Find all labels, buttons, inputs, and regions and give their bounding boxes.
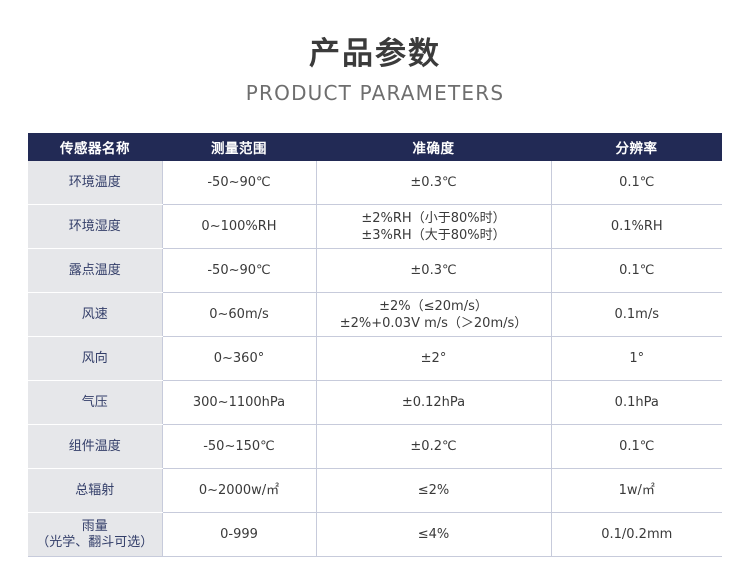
cell-measuring-range: 0~100%RH xyxy=(162,205,316,249)
cell-resolution: 0.1m/s xyxy=(551,293,722,337)
cell-accuracy: ±2%RH（小于80%时）±3%RH（大于80%时） xyxy=(316,205,551,249)
table-row: 风向0~360°±2°1° xyxy=(28,337,722,381)
table-row: 露点温度-50~90℃±0.3℃0.1℃ xyxy=(28,249,722,293)
column-header-accuracy: 准确度 xyxy=(316,133,551,161)
cell-resolution: 0.1hPa xyxy=(551,381,722,425)
cell-sensor-name: 环境湿度 xyxy=(28,205,162,249)
sensor-name-text: 气压 xyxy=(32,395,158,411)
cell-accuracy: ±2%（≤20m/s）±2%+0.03V m/s（＞20m/s） xyxy=(316,293,551,337)
sensor-name-text: 总辐射 xyxy=(32,483,158,499)
cell-sensor-name: 环境温度 xyxy=(28,161,162,205)
cell-sensor-name: 气压 xyxy=(28,381,162,425)
table-row: 组件温度-50~150℃±0.2℃0.1℃ xyxy=(28,425,722,469)
accuracy-line-1: ±0.3℃ xyxy=(321,174,547,191)
column-header-resolution: 分辨率 xyxy=(551,133,722,161)
table-body: 环境温度-50~90℃±0.3℃0.1℃环境湿度0~100%RH±2%RH（小于… xyxy=(28,161,722,557)
table-row: 雨量（光学、翻斗可选）0-999≤4%0.1/0.2mm xyxy=(28,513,722,557)
accuracy-line-1: ±0.3℃ xyxy=(321,262,547,279)
cell-accuracy: ±0.12hPa xyxy=(316,381,551,425)
page-header: 产品参数 PRODUCT PARAMETERS xyxy=(0,0,750,107)
accuracy-line-1: ±0.12hPa xyxy=(321,394,547,411)
cell-resolution: 0.1%RH xyxy=(551,205,722,249)
cell-sensor-name: 总辐射 xyxy=(28,469,162,513)
accuracy-line-2: ±3%RH（大于80%时） xyxy=(321,227,547,244)
sensor-name-text: 风速 xyxy=(32,307,158,323)
cell-resolution: 0.1℃ xyxy=(551,425,722,469)
table-row: 环境温度-50~90℃±0.3℃0.1℃ xyxy=(28,161,722,205)
accuracy-line-1: ±0.2℃ xyxy=(321,438,547,455)
cell-resolution: 0.1℃ xyxy=(551,161,722,205)
spec-table: 传感器名称 测量范围 准确度 分辨率 环境温度-50~90℃±0.3℃0.1℃环… xyxy=(28,133,722,557)
table-header: 传感器名称 测量范围 准确度 分辨率 xyxy=(28,133,722,161)
cell-measuring-range: 300~1100hPa xyxy=(162,381,316,425)
accuracy-line-1: ±2%RH（小于80%时） xyxy=(321,210,547,227)
cell-resolution: 1° xyxy=(551,337,722,381)
page-title: 产品参数 xyxy=(0,34,750,74)
accuracy-line-1: ±2° xyxy=(321,350,547,367)
table-row: 风速0~60m/s±2%（≤20m/s）±2%+0.03V m/s（＞20m/s… xyxy=(28,293,722,337)
cell-measuring-range: 0~60m/s xyxy=(162,293,316,337)
table-header-row: 传感器名称 测量范围 准确度 分辨率 xyxy=(28,133,722,161)
cell-accuracy: ±2° xyxy=(316,337,551,381)
sensor-name-text: 环境温度 xyxy=(32,175,158,191)
cell-sensor-name: 雨量（光学、翻斗可选） xyxy=(28,513,162,557)
cell-accuracy: ≤4% xyxy=(316,513,551,557)
page-subtitle: PRODUCT PARAMETERS xyxy=(0,79,750,107)
sensor-name-text: 风向 xyxy=(32,351,158,367)
cell-resolution: 0.1/0.2mm xyxy=(551,513,722,557)
cell-accuracy: ±0.2℃ xyxy=(316,425,551,469)
cell-sensor-name: 组件温度 xyxy=(28,425,162,469)
sensor-name-text: 组件温度 xyxy=(32,439,158,455)
cell-resolution: 0.1℃ xyxy=(551,249,722,293)
cell-measuring-range: 0~2000w/㎡ xyxy=(162,469,316,513)
cell-accuracy: ≤2% xyxy=(316,469,551,513)
table-row: 总辐射0~2000w/㎡≤2%1w/㎡ xyxy=(28,469,722,513)
sensor-name-text: 露点温度 xyxy=(32,263,158,279)
accuracy-line-1: ±2%（≤20m/s） xyxy=(321,298,547,315)
cell-measuring-range: 0~360° xyxy=(162,337,316,381)
cell-accuracy: ±0.3℃ xyxy=(316,161,551,205)
cell-accuracy: ±0.3℃ xyxy=(316,249,551,293)
column-header-sensor-name: 传感器名称 xyxy=(28,133,162,161)
cell-sensor-name: 露点温度 xyxy=(28,249,162,293)
column-header-measuring-range: 测量范围 xyxy=(162,133,316,161)
accuracy-line-1: ≤2% xyxy=(321,482,547,499)
cell-sensor-name: 风向 xyxy=(28,337,162,381)
sensor-name-text: 环境湿度 xyxy=(32,219,158,235)
table-row: 环境湿度0~100%RH±2%RH（小于80%时）±3%RH（大于80%时）0.… xyxy=(28,205,722,249)
cell-measuring-range: -50~90℃ xyxy=(162,249,316,293)
cell-measuring-range: 0-999 xyxy=(162,513,316,557)
accuracy-line-2: ±2%+0.03V m/s（＞20m/s） xyxy=(321,315,547,332)
product-parameters-page: 产品参数 PRODUCT PARAMETERS 传感器名称 测量范围 准确度 分… xyxy=(0,0,750,564)
spec-table-container: 传感器名称 测量范围 准确度 分辨率 环境温度-50~90℃±0.3℃0.1℃环… xyxy=(28,133,722,557)
sensor-name-subtext: （光学、翻斗可选） xyxy=(32,535,158,551)
cell-resolution: 1w/㎡ xyxy=(551,469,722,513)
cell-measuring-range: -50~90℃ xyxy=(162,161,316,205)
cell-sensor-name: 风速 xyxy=(28,293,162,337)
cell-measuring-range: -50~150℃ xyxy=(162,425,316,469)
table-row: 气压300~1100hPa±0.12hPa0.1hPa xyxy=(28,381,722,425)
sensor-name-text: 雨量 xyxy=(32,519,158,535)
accuracy-line-1: ≤4% xyxy=(321,526,547,543)
